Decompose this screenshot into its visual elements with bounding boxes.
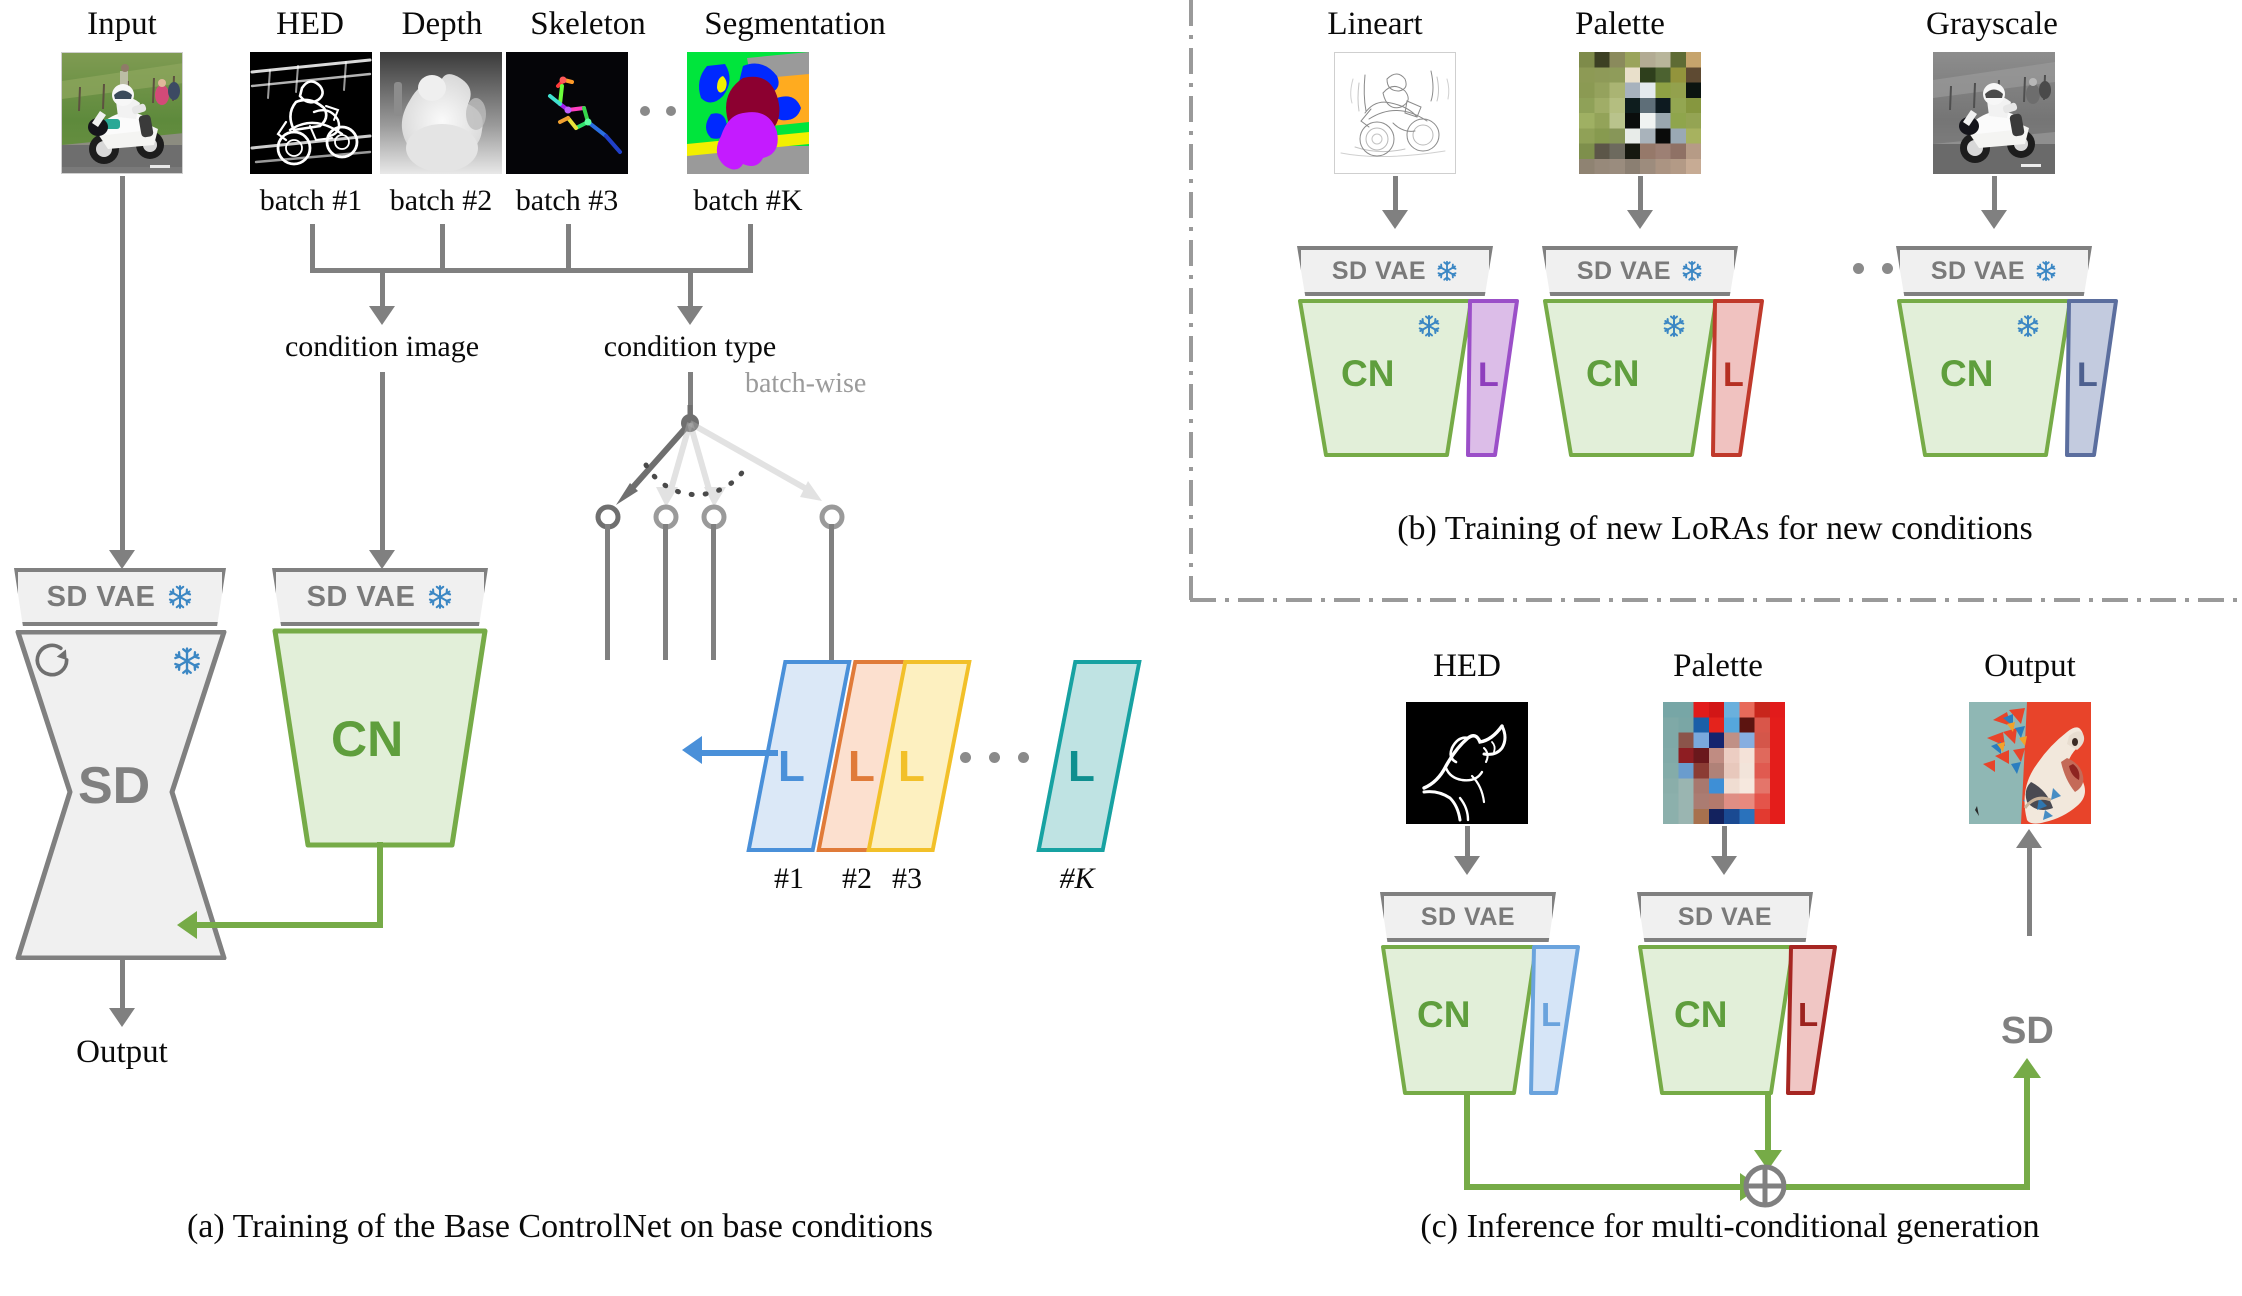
panel-c-hed-cn-label: CN	[1417, 994, 1470, 1036]
panel-c-palette-lora-label: L	[1798, 996, 1818, 1034]
panel-a-condition-label-hed: HED	[250, 6, 370, 43]
panel-b-grayscale-lora-label: L	[2077, 356, 2098, 395]
panel-c-hed-to-vae-line	[1465, 826, 1470, 860]
input-photo	[61, 52, 183, 174]
grayscale-image-svg	[1933, 52, 2055, 174]
panel-b-palette-vae-label: SD VAE	[1577, 257, 1671, 286]
lora-index-3: #3	[857, 862, 957, 896]
condition-image-to-vae-line	[380, 372, 385, 554]
panel-a-batch-label-3: batch #3	[507, 184, 627, 218]
panel-c-palette-image-svg	[1663, 702, 1785, 824]
panel-b-palette-lora-label: L	[1723, 356, 1744, 395]
grayscale-image	[1933, 52, 2055, 174]
panel-c-hed-image-svg	[1406, 702, 1528, 824]
panel-b-caption: (b) Training of new LoRAs for new condit…	[1240, 510, 2190, 548]
condition-type-drop-line	[688, 268, 693, 310]
panel-c-hed-vae-label: SD VAE	[1421, 903, 1515, 932]
panel-c-hed-image	[1406, 702, 1528, 824]
lora-block-2-label: L	[848, 742, 875, 792]
skeleton-image-svg	[506, 52, 628, 174]
terminal-stem-2	[663, 524, 668, 660]
batch-stub-1	[310, 224, 315, 272]
panel-b-lineart-vae-label: SD VAE	[1332, 257, 1426, 286]
panel-c-hed-out-hline	[1464, 1184, 1748, 1190]
panel-c-hed-lora-label: L	[1541, 996, 1561, 1034]
panel-b-lineart-vae[interactable]: SD VAE	[1297, 246, 1493, 296]
condition-image-drop-line	[380, 268, 385, 310]
batch-stub-2	[440, 224, 445, 272]
panel-a-cn-label: CN	[331, 710, 403, 768]
lineart-to-vae-arrowhead	[1382, 210, 1408, 229]
panel-b-grayscale-cn-label: CN	[1940, 353, 1993, 395]
panel-c-palette-to-vae-arrowhead	[1711, 856, 1737, 875]
snowflake-icon	[167, 584, 193, 610]
panel-a-condition-label-segmentation: Segmentation	[672, 6, 918, 43]
panel-a-batch-label-k: batch #K	[688, 184, 808, 218]
panel-a-batch-label-1: batch #1	[251, 184, 371, 218]
panel-b-title-grayscale: Grayscale	[1872, 6, 2112, 43]
hed-condition-image	[250, 52, 372, 174]
panel-c-hed-out-vline	[1464, 1092, 1470, 1190]
segmentation-condition-image	[687, 52, 809, 174]
panel-c-hed-to-vae-arrowhead	[1454, 856, 1480, 875]
panel-b-palette-cn-label: CN	[1586, 353, 1639, 395]
panel-b-grayscale-vae-label: SD VAE	[1931, 257, 2025, 286]
panel-a-condition-vae[interactable]: SD VAE	[272, 568, 488, 626]
batch-stub-3	[566, 224, 571, 272]
panel-c-title-hed: HED	[1377, 648, 1557, 685]
panel-b-title-palette: Palette	[1520, 6, 1720, 43]
panel-a-batch-label-2: batch #2	[381, 184, 501, 218]
input-to-vae-arrowhead	[109, 550, 135, 569]
panel-c-palette-vae[interactable]: SD VAE	[1637, 892, 1813, 942]
terminal-stem-3	[711, 524, 716, 660]
input-to-vae-line	[120, 176, 125, 554]
panel-a-input-label: Input	[22, 6, 222, 43]
terminal-stem-k	[829, 524, 834, 660]
snowflake-icon	[1436, 260, 1458, 282]
panel-c-merge-to-sd-hline	[1786, 1184, 2030, 1190]
lineart-to-vae-line	[1393, 176, 1398, 214]
snowflake-icon	[427, 584, 453, 610]
panel-c-caption: (c) Inference for multi-conditional gene…	[1255, 1208, 2205, 1246]
terminal-stem-1	[605, 524, 610, 660]
panel-c-output-title: Output	[1930, 648, 2130, 685]
depth-image-svg	[380, 52, 502, 174]
lora-block-k-label: L	[1068, 742, 1095, 792]
panel-b-lineart-cn-label: CN	[1341, 353, 1394, 395]
lora-block-1-label: L	[778, 742, 805, 792]
panel-a-input-vae[interactable]: SD VAE	[14, 568, 226, 626]
sd-to-output-line	[120, 958, 125, 1012]
lora-to-cn-line	[700, 750, 778, 756]
lora-index-k: #K	[1027, 862, 1127, 896]
refresh-icon	[30, 638, 74, 682]
snowflake-icon	[172, 646, 202, 676]
palette-b-to-vae-line	[1638, 176, 1643, 214]
condition-type-label: condition type	[574, 330, 806, 364]
snowflake-icon	[1662, 314, 1686, 338]
panel-a-condition-label-depth: Depth	[382, 6, 502, 43]
batch-bus-line	[310, 268, 753, 273]
skeleton-condition-image	[506, 52, 628, 174]
panel-c-palette-cn-label: CN	[1674, 994, 1727, 1036]
horizontal-divider	[1190, 594, 2242, 606]
cn-to-sd-arrowhead	[177, 911, 197, 939]
lora-to-cn-arrowhead	[682, 736, 702, 764]
snowflake-icon	[2035, 260, 2057, 282]
lineart-image	[1334, 52, 1456, 174]
switch-arrow-inactive-2	[656, 423, 690, 507]
panel-c-merge-to-sd-arrowhead	[2013, 1058, 2041, 1078]
palette-image-b-svg	[1579, 52, 1701, 174]
panel-c-sd-label: SD	[2001, 1010, 2054, 1053]
snowflake-icon	[2016, 314, 2040, 338]
hed-image-svg	[250, 52, 372, 174]
panel-a-caption: (a) Training of the Base ControlNet on b…	[60, 1208, 1060, 1246]
vertical-divider	[1185, 0, 1197, 600]
condition-image-to-vae-arrow	[369, 550, 395, 569]
panel-c-palette-image	[1663, 702, 1785, 824]
panel-b-title-lineart: Lineart	[1275, 6, 1475, 43]
grayscale-to-vae-arrowhead	[1981, 210, 2007, 229]
panel-b-grayscale-vae[interactable]: SD VAE	[1896, 246, 2092, 296]
panel-c-sd-to-output-arrowhead	[2016, 829, 2042, 848]
panel-a-output-label: Output	[22, 1034, 222, 1071]
panel-c-sd-to-output-line	[2027, 848, 2032, 936]
panel-b-palette-vae[interactable]: SD VAE	[1542, 246, 1738, 296]
cn-to-sd-hline	[196, 922, 382, 928]
sd-to-output-arrowhead	[109, 1008, 135, 1027]
snowflake-icon	[1417, 314, 1441, 338]
condition-image-drop-arrow	[369, 306, 395, 325]
panel-c-output-image-svg	[1969, 702, 2091, 824]
lineart-image-svg	[1335, 53, 1456, 174]
sd-block-label: SD	[78, 756, 150, 816]
grayscale-to-vae-line	[1992, 176, 1997, 214]
batch-stub-k	[748, 224, 753, 272]
panel-c-title-palette: Palette	[1618, 648, 1818, 685]
panel-c-palette-vae-label: SD VAE	[1678, 903, 1772, 932]
snowflake-icon	[1681, 260, 1703, 282]
input-photo-svg	[62, 53, 183, 174]
lora-block-3-label: L	[898, 742, 925, 792]
condition-image-label: condition image	[266, 330, 498, 364]
panel-a-lora-ellipsis	[960, 752, 1029, 763]
panel-a-condition-vae-label: SD VAE	[307, 581, 416, 614]
panel-b-lineart-lora-label: L	[1478, 356, 1499, 395]
panel-a-input-vae-label: SD VAE	[47, 581, 156, 614]
panel-a-condition-label-skeleton: Skeleton	[505, 6, 671, 43]
palette-b-to-vae-arrowhead	[1627, 210, 1653, 229]
batch-wise-label: batch-wise	[745, 368, 866, 400]
panel-c-palette-to-vae-line	[1722, 826, 1727, 860]
merge-node	[1741, 1162, 1789, 1210]
depth-condition-image	[380, 52, 502, 174]
cn-to-sd-vline	[377, 842, 383, 928]
segmentation-image-svg	[687, 52, 809, 174]
panel-c-palette-out-vline	[1765, 1092, 1771, 1154]
palette-image-b	[1579, 52, 1701, 174]
condition-type-drop-arrow	[677, 306, 703, 325]
panel-c-output-image	[1969, 702, 2091, 824]
batch-wise-switch	[560, 405, 980, 545]
panel-c-merge-to-sd-vline	[2024, 1076, 2030, 1188]
panel-c-hed-vae[interactable]: SD VAE	[1380, 892, 1556, 942]
